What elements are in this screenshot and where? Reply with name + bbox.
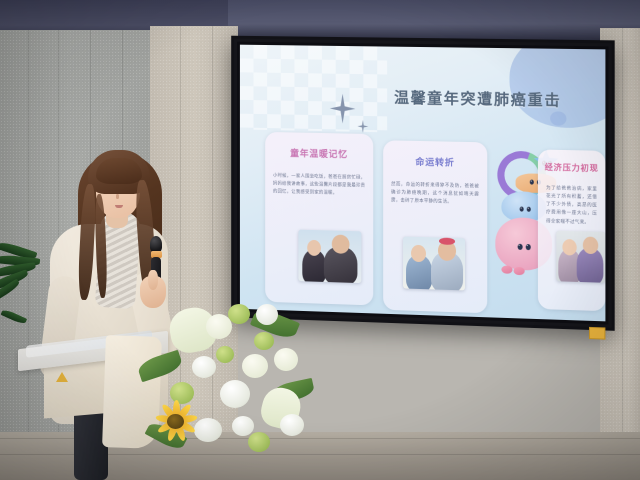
- presenter-hair-fringe: [96, 158, 142, 184]
- podium-logo-icon: [56, 372, 68, 382]
- slide-screen: 温馨童年突遭肺癌重击 童年温暖记忆 小时候，一家人围坐吃饭，爸爸在厨房忙碌，妈妈…: [240, 45, 606, 322]
- wall-display: 温馨童年突遭肺癌重击 童年温暖记忆 小时候，一家人围坐吃饭，爸爸在厨房忙碌，妈妈…: [231, 36, 614, 331]
- presenter-thumb: [148, 270, 158, 290]
- card-2-photo: [403, 237, 465, 291]
- microphone-head: [150, 236, 162, 252]
- sunflower: [154, 400, 198, 442]
- card-3-body: 为了给爸爸治病，家里花光了所有积蓄，还借了不少外债，高昂的医疗费用像一座大山，压…: [546, 184, 597, 226]
- display-corner-label: [589, 327, 605, 340]
- card-1-photo: [298, 230, 361, 284]
- card-2-body: 然而，命运的转折来得猝不及防，爸爸被确诊为肺癌晚期，这个消息犹如晴天霹雳，击碎了…: [391, 180, 479, 207]
- card-3-title: 经济压力初现: [538, 162, 606, 175]
- card-2-title: 命运转折: [383, 154, 487, 169]
- card-1-body: 小时候，一家人围坐吃饭，爸爸在厨房忙碌，妈妈给我讲故事，这些温馨片段都是我最珍贵…: [273, 172, 365, 198]
- card-3-photo: [556, 231, 605, 283]
- card-1-title: 童年温暖记忆: [265, 146, 373, 161]
- flower-bouquet: [132, 296, 316, 472]
- presentation-photo-scene: 温馨童年突遭肺癌重击 童年温暖记忆 小时候，一家人围坐吃饭，爸爸在厨房忙碌，妈妈…: [0, 0, 640, 480]
- corner-blob-small-decor: [550, 111, 566, 125]
- slide-title: 温馨童年突遭肺癌重击: [367, 86, 589, 111]
- ceiling-right: [228, 0, 640, 40]
- checkerboard-decor: [240, 45, 387, 133]
